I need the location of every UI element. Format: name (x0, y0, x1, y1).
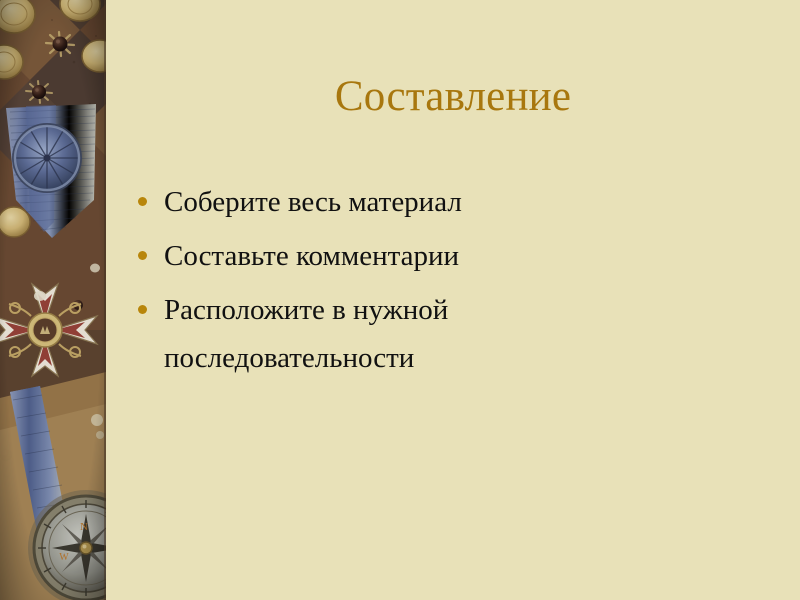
bullet-list: Соберите весь материал Составьте коммент… (134, 178, 604, 388)
bullet-item-label: Соберите весь материал (164, 178, 604, 226)
bullet-dot-icon (138, 197, 147, 206)
bullet-dot-icon (138, 251, 147, 260)
presentation-slide: N W Составление Соберите (0, 0, 800, 600)
bullet-dot-icon (138, 305, 147, 314)
bullet-item-1: Соберите весь материал (134, 178, 604, 226)
decorative-photo-strip: N W (0, 0, 106, 600)
antique-medals-and-compass-photo: N W (0, 0, 106, 600)
bullet-item-2: Составьте комментарии (134, 232, 604, 280)
slide-content: Составление Соберите весь материал Соста… (106, 0, 800, 600)
bullet-item-3: Расположите в нужной последовательности (134, 286, 604, 382)
slide-title: Составление (106, 72, 800, 122)
bullet-item-label: Составьте комментарии (164, 232, 604, 280)
bullet-item-label: Расположите в нужной последовательности (164, 286, 604, 382)
